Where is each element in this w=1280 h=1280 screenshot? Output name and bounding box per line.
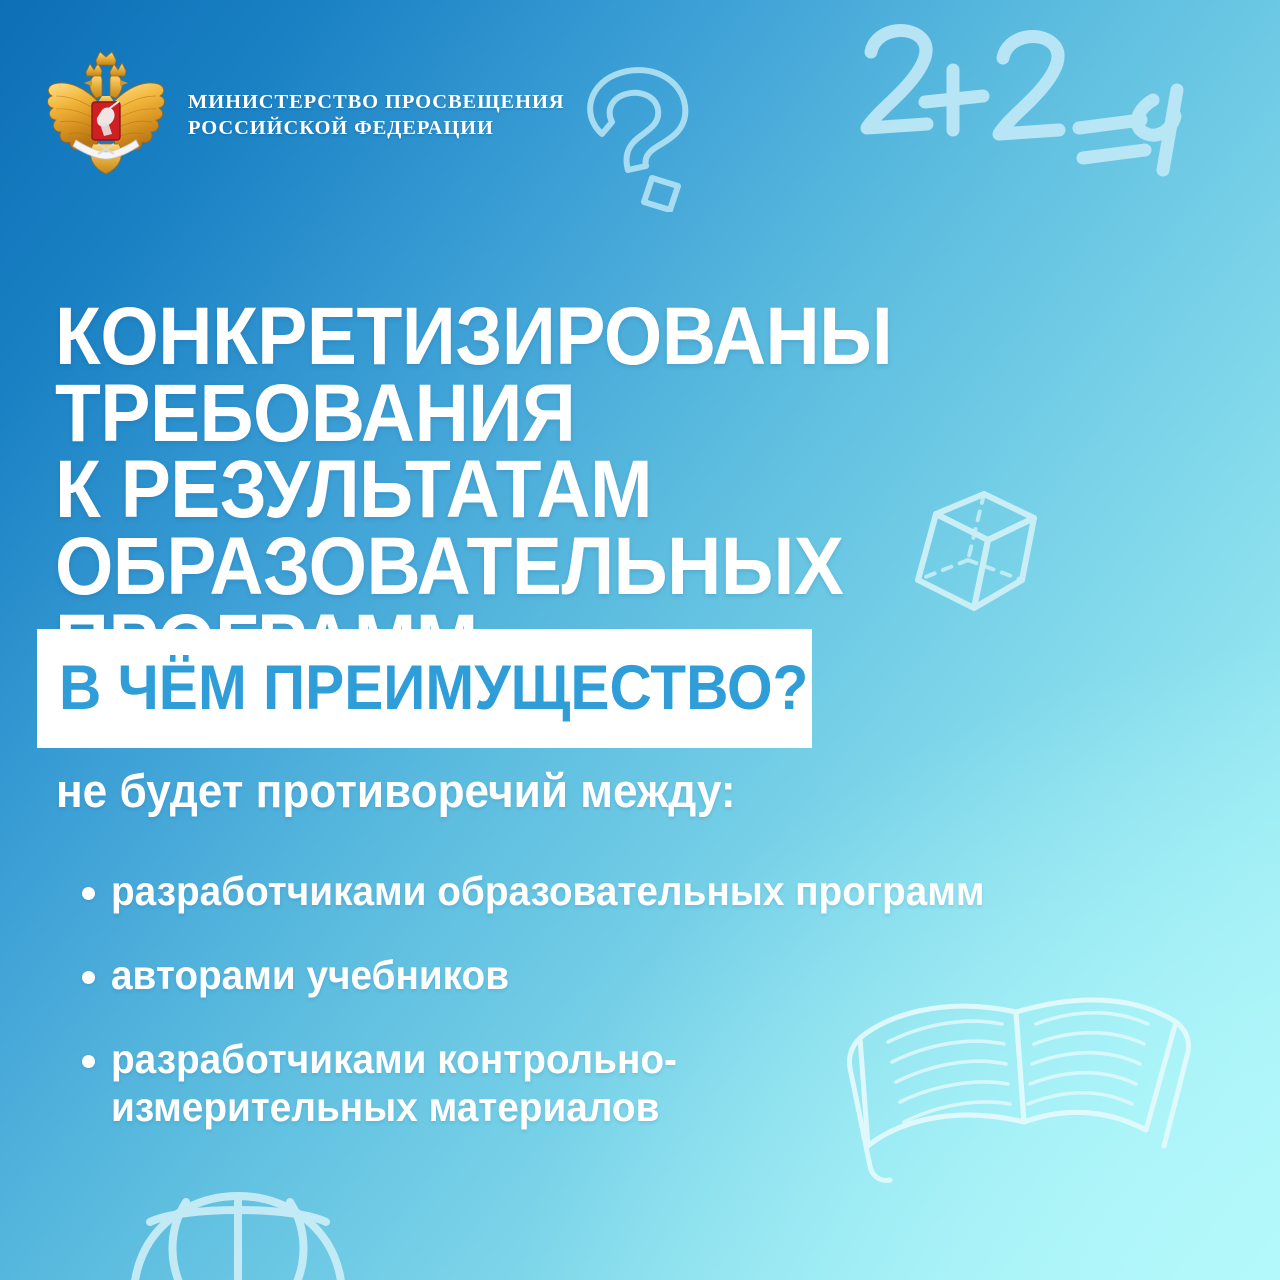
benefits-list: разработчиками образовательных программ …: [82, 868, 1092, 1168]
question-mark-doodle: [578, 62, 710, 217]
bullet-icon: [82, 887, 95, 900]
russian-double-headed-eagle-emblem: [44, 52, 168, 178]
list-item: разработчиками контрольно- измерительных…: [82, 1036, 1092, 1132]
math-equation-doodle: [855, 18, 1185, 183]
list-item: авторами учебников: [82, 952, 1092, 1000]
bullet-icon: [82, 971, 95, 984]
ministry-name: МИНИСТЕРСТВО ПРОСВЕЩЕНИЯ РОССИЙСКОЙ ФЕДЕ…: [188, 89, 565, 141]
advantage-subheadline: не будет противоречий между:: [56, 766, 736, 815]
list-item: разработчиками образовательных программ: [82, 868, 1092, 916]
advantage-banner: В ЧЁМ ПРЕИМУЩЕСТВО?: [37, 629, 812, 748]
list-item-label: разработчиками контрольно- измерительных…: [111, 1036, 677, 1132]
ministry-logo: МИНИСТЕРСТВО ПРОСВЕЩЕНИЯ РОССИЙСКОЙ ФЕДЕ…: [44, 52, 565, 178]
advantage-banner-label: В ЧЁМ ПРЕИМУЩЕСТВО?: [59, 657, 808, 720]
page-title: КОНКРЕТИЗИРОВАНЫ ТРЕБОВАНИЯ К РЕЗУЛЬТАТА…: [55, 299, 1135, 682]
list-item-label: авторами учебников: [111, 952, 509, 1000]
bullet-icon: [82, 1055, 95, 1068]
globe-doodle: [128, 1186, 348, 1280]
infographic-poster: МИНИСТЕРСТВО ПРОСВЕЩЕНИЯ РОССИЙСКОЙ ФЕДЕ…: [0, 0, 1280, 1280]
list-item-label: разработчиками образовательных программ: [111, 868, 985, 916]
